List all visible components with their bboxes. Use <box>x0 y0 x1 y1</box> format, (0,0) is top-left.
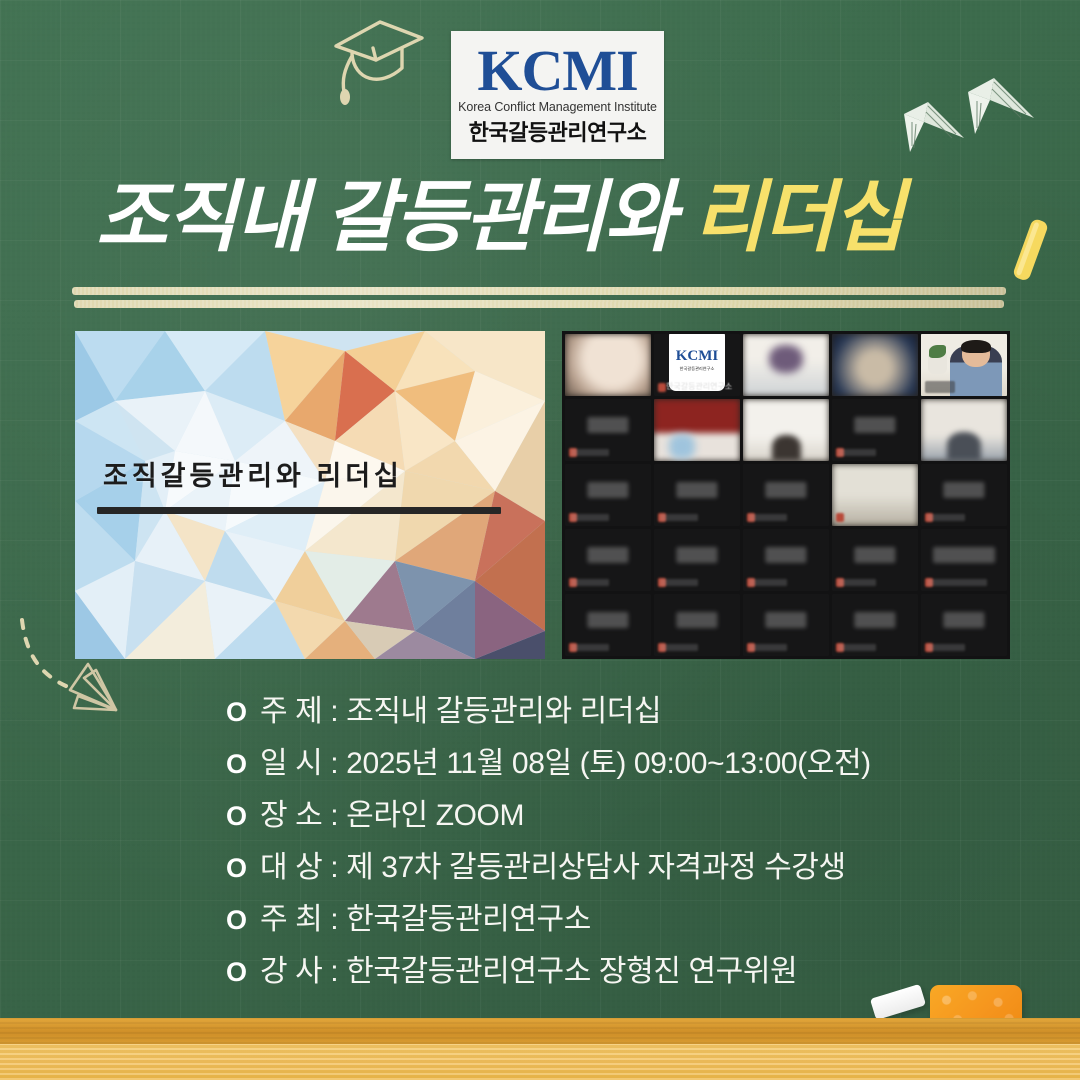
presentation-slide-image: 조직갈등관리와 리더십 <box>75 331 545 659</box>
list-item: O 장 소 : 온라인 ZOOM <box>226 790 1026 830</box>
zoom-tile <box>654 399 740 461</box>
zoom-tile <box>832 594 918 656</box>
logo-english-name: Korea Conflict Management Institute <box>458 100 657 114</box>
kcmi-avatar-subtext: 한국갈등관리연구소 <box>680 366 715 372</box>
page-title: 조직내 갈등관리와 리더십 <box>96 178 1076 278</box>
title-white-part: 조직내 갈등관리와 <box>96 173 674 261</box>
list-item-text: 대 상 : 제 37차 갈등관리상담사 자격과정 수강생 <box>260 842 846 886</box>
zoom-tile <box>743 334 829 396</box>
zoom-tile <box>565 529 651 591</box>
list-item-text: 주 최 : 한국갈등관리연구소 <box>260 894 591 938</box>
list-item: O 강 사 : 한국갈등관리연구소 장형진 연구위원 <box>226 946 1026 986</box>
zoom-tile-name: 한국갈등관리연구소 <box>666 381 732 392</box>
list-item: O 대 상 : 제 37차 갈등관리상담사 자격과정 수강생 <box>226 842 1026 882</box>
chalk-underline-2 <box>74 300 1004 308</box>
logo-acronym: KCMI <box>477 43 637 98</box>
list-item-text: 강 사 : 한국갈등관리연구소 장형진 연구위원 <box>260 946 797 990</box>
zoom-tile <box>921 594 1007 656</box>
logo-korean-name: 한국갈등관리연구소 <box>469 115 647 147</box>
bullet-icon: O <box>226 907 247 934</box>
zoom-tile <box>921 399 1007 461</box>
slide-divider <box>97 507 501 514</box>
zoom-tile <box>565 594 651 656</box>
zoom-tile <box>654 464 740 526</box>
bullet-icon: O <box>226 803 247 830</box>
zoom-tile-name <box>925 381 954 393</box>
zoom-participant-grid: KCMI 한국갈등관리연구소 한국갈등관리연구소 <box>562 331 1010 659</box>
list-item: O 일 시 : 2025년 11월 08일 (토) 09:00~13:00(오전… <box>226 738 1026 778</box>
zoom-tile <box>743 529 829 591</box>
list-item-text: 주 제 : 조직내 갈등관리와 리더십 <box>260 686 661 730</box>
zoom-tile <box>565 464 651 526</box>
mic-muted-icon <box>658 383 666 392</box>
zoom-tile <box>832 399 918 461</box>
kcmi-logo: KCMI Korea Conflict Management Institute… <box>451 31 664 159</box>
chalk-underline-1 <box>72 287 1006 295</box>
list-item-text: 장 소 : 온라인 ZOOM <box>260 790 524 834</box>
zoom-tile <box>565 399 651 461</box>
chalkboard-ledge-top <box>0 1018 1080 1044</box>
poster-canvas: KCMI Korea Conflict Management Institute… <box>0 0 1080 1080</box>
low-poly-background <box>75 331 545 659</box>
zoom-tile <box>743 399 829 461</box>
zoom-tile <box>654 594 740 656</box>
zoom-tile-kcmi: KCMI 한국갈등관리연구소 한국갈등관리연구소 <box>654 334 740 396</box>
zoom-tile <box>832 529 918 591</box>
slide-heading: 조직갈등관리와 리더십 <box>103 454 403 493</box>
zoom-tile-active-speaker <box>921 334 1007 396</box>
zoom-meeting-image: KCMI 한국갈등관리연구소 한국갈등관리연구소 <box>562 331 1010 659</box>
zoom-tile <box>654 529 740 591</box>
zoom-tile <box>743 464 829 526</box>
bullet-icon: O <box>226 959 247 986</box>
speaker-hair <box>961 340 990 354</box>
bullet-icon: O <box>226 751 247 778</box>
title-yellow-part: 리더십 <box>693 173 902 261</box>
zoom-tile <box>832 334 918 396</box>
list-item: O 주 제 : 조직내 갈등관리와 리더십 <box>226 686 1026 726</box>
bullet-icon: O <box>226 855 247 882</box>
zoom-tile <box>921 529 1007 591</box>
list-item: O 주 최 : 한국갈등관리연구소 <box>226 894 1026 934</box>
chalkboard-ledge-face <box>0 1044 1080 1080</box>
bullet-icon: O <box>226 699 247 726</box>
zoom-tile <box>832 464 918 526</box>
zoom-tile <box>921 464 1007 526</box>
list-item-text: 일 시 : 2025년 11월 08일 (토) 09:00~13:00(오전) <box>260 738 871 782</box>
details-list: O 주 제 : 조직내 갈등관리와 리더십 O 일 시 : 2025년 11월 … <box>226 686 1026 998</box>
plant-leaf <box>929 345 946 357</box>
zoom-tile <box>565 334 651 396</box>
zoom-tile <box>743 594 829 656</box>
kcmi-avatar-acronym: KCMI <box>676 349 719 364</box>
